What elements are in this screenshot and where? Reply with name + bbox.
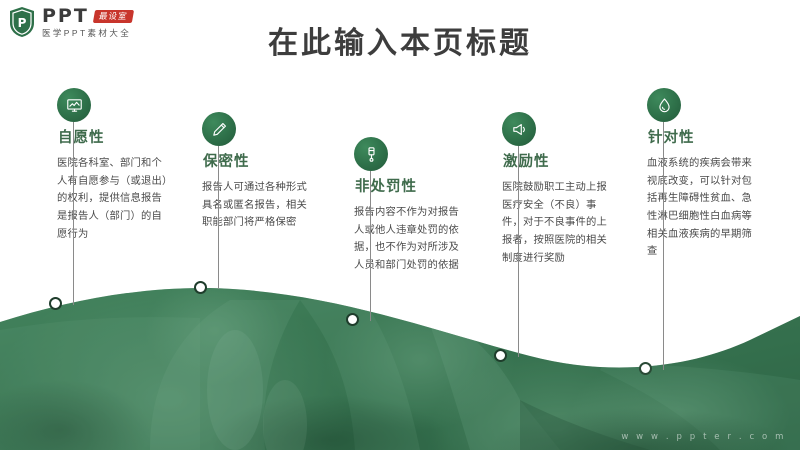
column-1-heading: 自愿性 bbox=[58, 131, 177, 147]
timeline-marker-2 bbox=[194, 281, 207, 294]
content-column-5: 针对性 血液系统的疾病会带来视底改变，可以针对包括再生障碍性贫血、急性淋巴细胞性… bbox=[647, 88, 767, 261]
content-column-1: 自愿性 医院各科室、部门和个人有自愿参与（或退出）的权利，提供信息报告是报告人（… bbox=[57, 88, 177, 243]
timeline-marker-1 bbox=[49, 297, 62, 310]
timeline-marker-3 bbox=[346, 313, 359, 326]
slide-canvas: P PPT 最设室 医学PPT素材大全 在此输入本页标题 自愿性 bbox=[0, 0, 800, 450]
column-2-heading: 保密性 bbox=[203, 155, 322, 171]
content-column-3: 非处罚性 报告内容不作为对报告人或他人违章处罚的依据，也不作为对所涉及人员和部门… bbox=[354, 137, 474, 275]
droplet-icon bbox=[647, 88, 681, 122]
site-watermark: w w w . p p t e r . c o m bbox=[621, 432, 786, 442]
content-column-4: 激励性 医院鼓励职工主动上报医疗安全（不良）事件，对于不良事件的上报者，按照医院… bbox=[502, 112, 622, 267]
content-column-2: 保密性 报告人可通过各种形式具名或匿名报告，相关职能部门将严格保密 bbox=[202, 112, 322, 232]
column-3-heading: 非处罚性 bbox=[355, 180, 474, 196]
megaphone-icon bbox=[502, 112, 536, 146]
connector-line-5 bbox=[663, 122, 664, 370]
columns-container: 自愿性 医院各科室、部门和个人有自愿参与（或退出）的权利，提供信息报告是报告人（… bbox=[0, 0, 800, 450]
monitor-chart-icon bbox=[57, 88, 91, 122]
connector-line-1 bbox=[73, 122, 74, 305]
timeline-marker-5 bbox=[639, 362, 652, 375]
page-title: 在此输入本页标题 bbox=[0, 18, 800, 62]
timeline-marker-4 bbox=[494, 349, 507, 362]
iv-bottle-icon bbox=[354, 137, 388, 171]
column-4-heading: 激励性 bbox=[503, 155, 622, 171]
connector-line-2 bbox=[218, 146, 219, 289]
connector-line-4 bbox=[518, 146, 519, 357]
pencil-icon bbox=[202, 112, 236, 146]
column-5-heading: 针对性 bbox=[648, 131, 767, 147]
connector-line-3 bbox=[370, 171, 371, 321]
